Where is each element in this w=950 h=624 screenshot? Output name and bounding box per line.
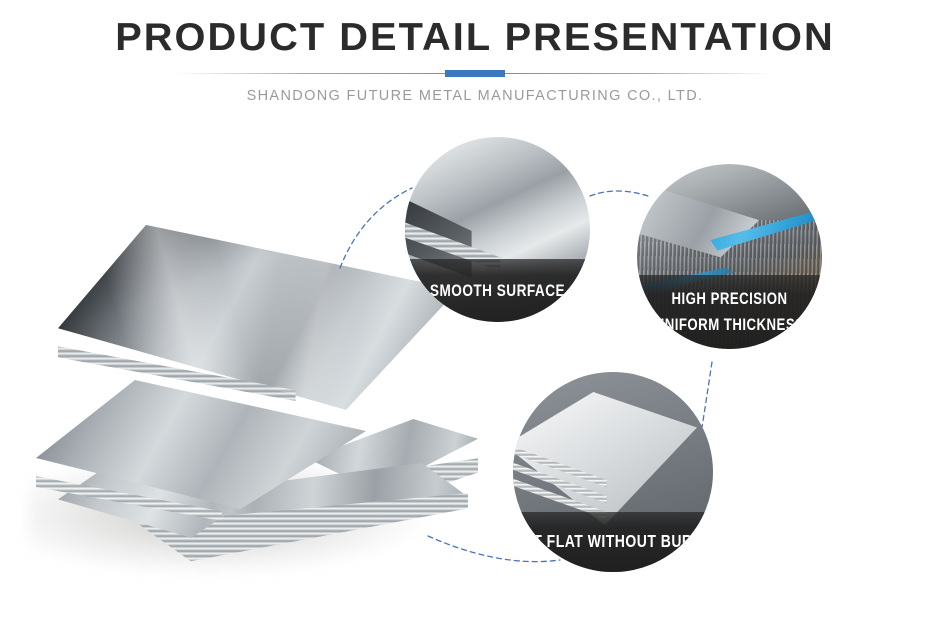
divider-accent-bar: [445, 70, 505, 77]
callout-smooth-surface: SMOOTH SURFACE: [405, 137, 590, 322]
page-title: PRODUCT DETAIL PRESENTATION: [0, 16, 950, 60]
company-subtitle: SHANDONG FUTURE METAL MANUFACTURING CO.,…: [0, 88, 950, 104]
callout-cut-flat: CUT FLAT WITHOUT BURRS: [513, 372, 713, 572]
header: PRODUCT DETAIL PRESENTATION SHANDONG FUT…: [0, 0, 950, 122]
callout-high-precision-band: HIGH PRECISION UNIFORM THICKNESS: [637, 275, 822, 349]
callout-smooth-surface-band: SMOOTH SURFACE: [405, 259, 590, 322]
callout-cut-flat-label: CUT FLAT WITHOUT BURRS: [513, 533, 713, 551]
callout-high-precision: HIGH PRECISION UNIFORM THICKNESS: [637, 164, 822, 349]
presentation-canvas: PRODUCT DETAIL PRESENTATION SHANDONG FUT…: [0, 0, 950, 624]
callout-high-precision-label-line2: UNIFORM THICKNESS: [655, 317, 805, 334]
callout-smooth-surface-label: SMOOTH SURFACE: [430, 282, 565, 299]
callout-high-precision-label-line1: HIGH PRECISION: [671, 291, 787, 308]
product-photo-aluminum-sheets: [18, 205, 448, 595]
callout-cut-flat-band: CUT FLAT WITHOUT BURRS: [513, 512, 713, 572]
title-divider: [175, 70, 775, 77]
